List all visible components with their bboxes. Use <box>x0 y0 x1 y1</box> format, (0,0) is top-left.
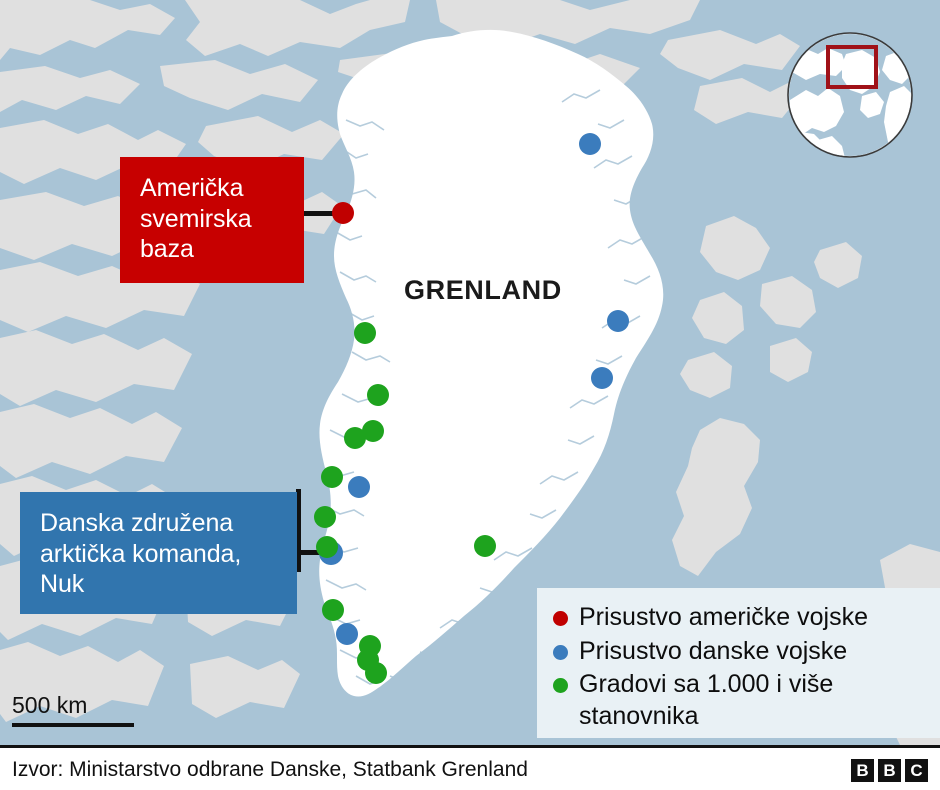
callout-us-space-base[interactable]: Američka svemirska baza <box>120 157 304 283</box>
map-marker-town[interactable] <box>314 506 336 528</box>
bbc-logo-letter-3: C <box>905 759 928 782</box>
callout-danish-arctic-command[interactable]: Danska združena arktička komanda, Nuk <box>20 492 297 614</box>
map-marker-town[interactable] <box>316 536 338 558</box>
legend-item-danish-military: Prisustvo danske vojske <box>553 636 930 668</box>
country-label-greenland: GRENLAND <box>404 275 562 306</box>
map-marker-danish-military[interactable] <box>348 476 370 498</box>
callout-dk-line2: arktička komanda, <box>40 539 287 570</box>
scale-bar-line <box>12 723 134 727</box>
map-canvas[interactable]: GRENLAND Američka svemirska baza Danska … <box>0 0 940 745</box>
map-graphic: GRENLAND Američka svemirska baza Danska … <box>0 0 940 790</box>
callout-dk-line3: Nuk <box>40 569 287 600</box>
map-marker-town[interactable] <box>344 427 366 449</box>
legend-item-towns: Gradovi sa 1.000 i više stanovnika <box>553 669 930 732</box>
map-marker-town[interactable] <box>365 662 387 684</box>
legend-swatch-green <box>553 678 568 693</box>
footer-bar: Izvor: Ministarstvo odbrane Danske, Stat… <box>0 745 940 790</box>
callout-us-line2: svemirska <box>140 204 294 235</box>
legend-swatch-blue <box>553 645 568 660</box>
map-marker-danish-military[interactable] <box>336 623 358 645</box>
map-marker-town[interactable] <box>474 535 496 557</box>
callout-dk-line1: Danska združena <box>40 508 287 539</box>
callout-us-line1: Američka <box>140 173 294 204</box>
bbc-logo: B B C <box>851 759 928 782</box>
source-attribution: Izvor: Ministarstvo odbrane Danske, Stat… <box>12 758 528 782</box>
legend-label-danish-military: Prisustvo danske vojske <box>579 636 847 668</box>
map-marker-danish-military[interactable] <box>607 310 629 332</box>
bbc-logo-letter-1: B <box>851 759 874 782</box>
map-marker-danish-military[interactable] <box>591 367 613 389</box>
legend-label-towns: Gradovi sa 1.000 i više stanovnika <box>579 669 930 732</box>
map-marker-danish-military[interactable] <box>579 133 601 155</box>
map-marker-town[interactable] <box>322 599 344 621</box>
legend-swatch-red <box>553 611 568 626</box>
legend-label-us-military: Prisustvo američke vojske <box>579 602 868 634</box>
legend-item-us-military: Prisustvo američke vojske <box>553 602 930 634</box>
map-marker-town[interactable] <box>354 322 376 344</box>
map-marker-us-military[interactable] <box>332 202 354 224</box>
scale-bar: 500 km <box>12 694 134 727</box>
scale-bar-label: 500 km <box>12 694 134 717</box>
map-marker-town[interactable] <box>367 384 389 406</box>
map-marker-town[interactable] <box>321 466 343 488</box>
bbc-logo-letter-2: B <box>878 759 901 782</box>
map-legend: Prisustvo američke vojske Prisustvo dans… <box>537 588 940 738</box>
callout-us-line3: baza <box>140 234 294 265</box>
